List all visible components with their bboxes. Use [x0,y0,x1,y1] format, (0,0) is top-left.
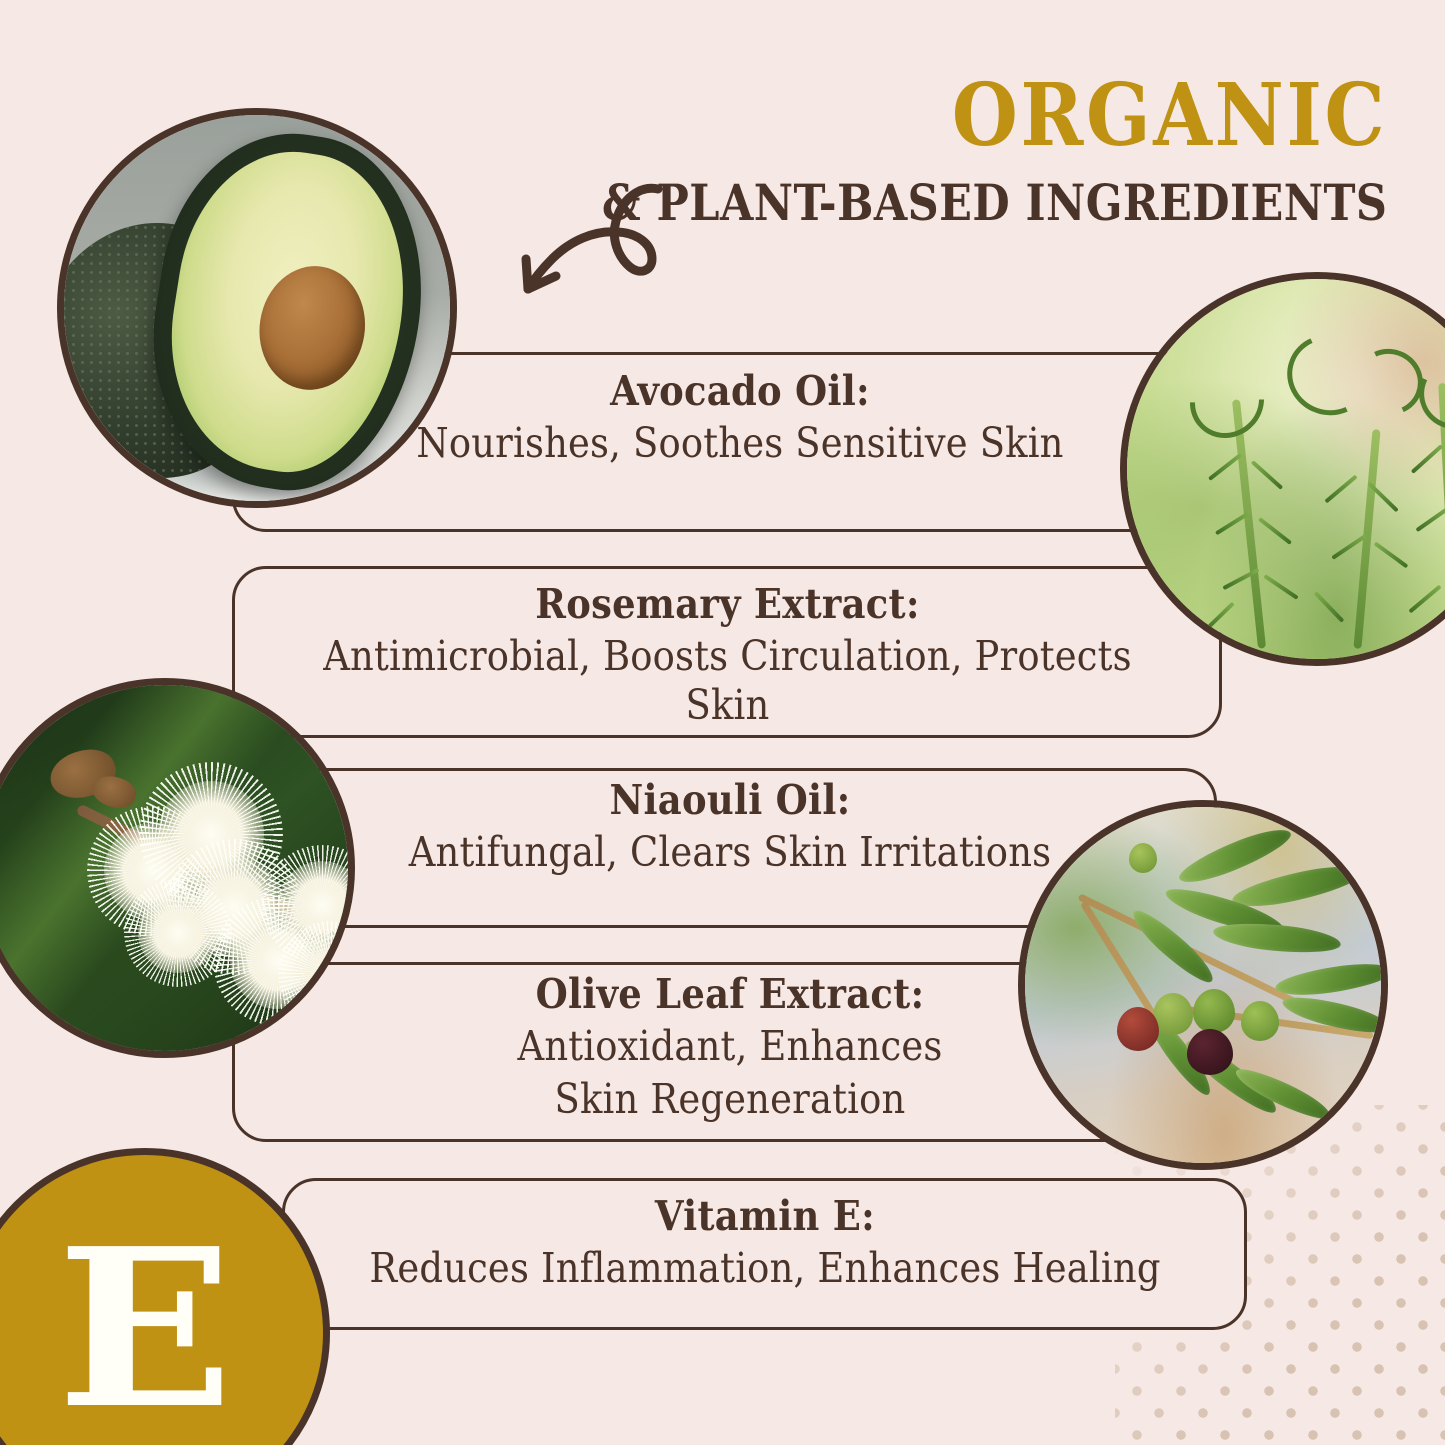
rosemary-photo [1120,272,1445,666]
page-subtitle: & PLANT-BASED INGREDIENTS [602,172,1387,235]
page-title: ORGANIC [583,72,1387,160]
vitamin-e-badge: E [0,1148,330,1445]
olive-photo [1018,800,1388,1170]
avocado-photo [57,108,457,508]
infographic-canvas: ORGANIC & PLANT-BASED INGREDIENTS [0,0,1445,1445]
vitamin-e-letter: E [57,1220,233,1438]
callout-box-vitamin-e [282,1178,1247,1330]
curly-arrow-down-left-icon [490,175,670,305]
niaouli-photo [0,678,355,1058]
callout-box-rosemary [232,566,1222,738]
